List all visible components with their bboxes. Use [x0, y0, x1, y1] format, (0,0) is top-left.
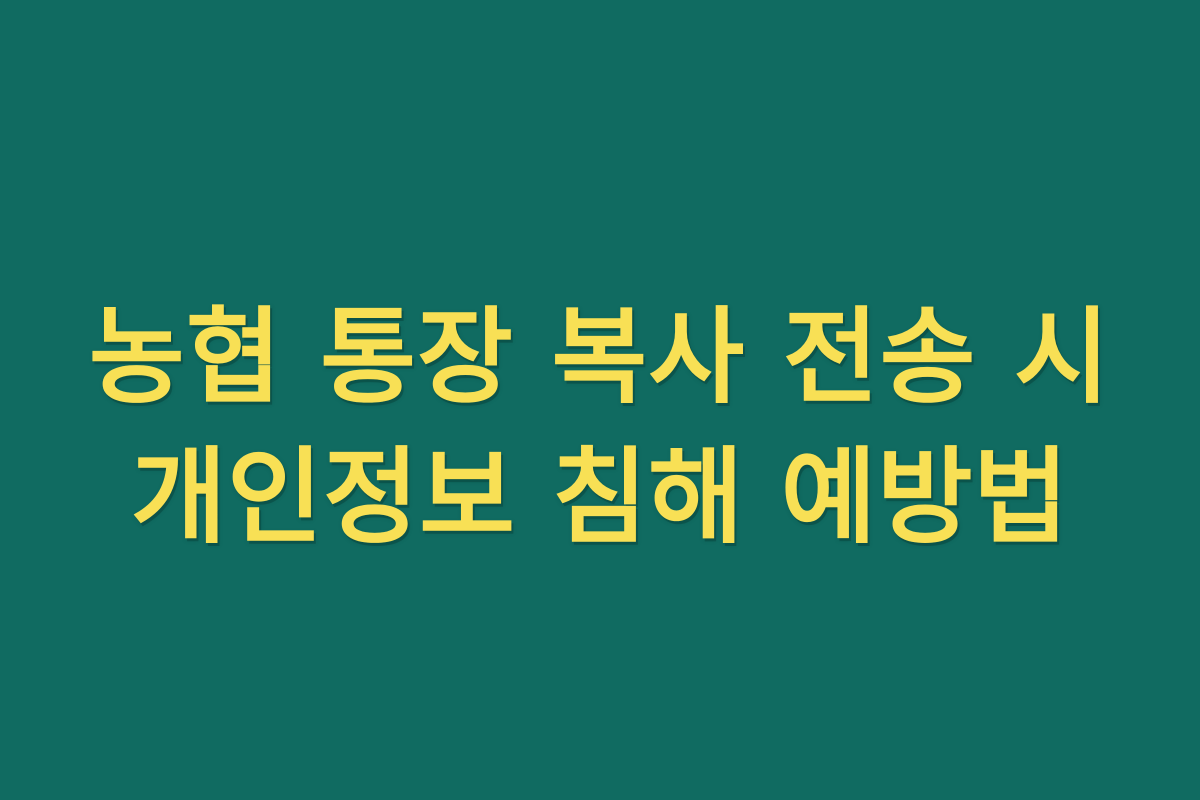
- headline-block: 농협 통장 복사 전송 시 개인정보 침해 예방법: [0, 287, 1200, 567]
- banner-canvas: 농협 통장 복사 전송 시 개인정보 침해 예방법: [0, 0, 1200, 800]
- headline-line-2: 개인정보 침해 예방법: [0, 427, 1200, 567]
- headline-line-1: 농협 통장 복사 전송 시: [0, 287, 1200, 427]
